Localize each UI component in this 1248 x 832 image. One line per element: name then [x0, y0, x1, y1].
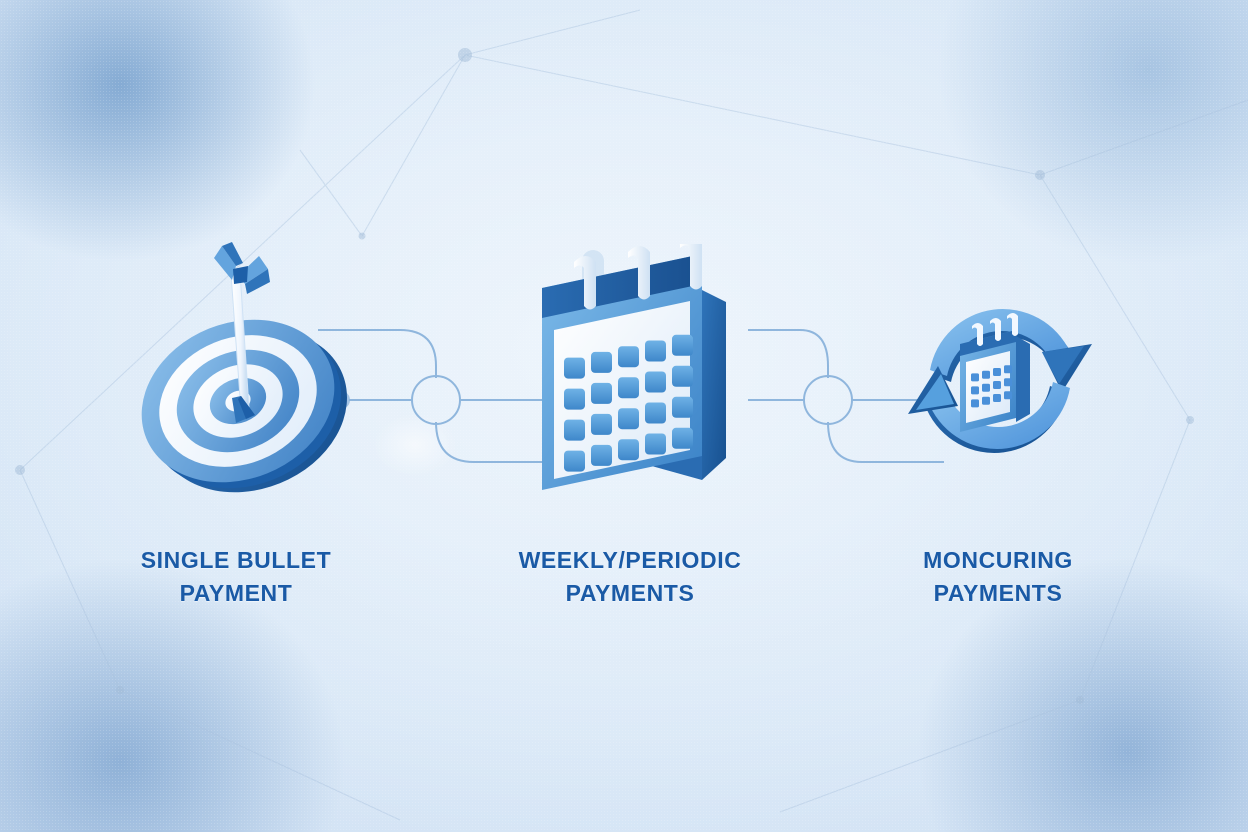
label-line-1: MONCURING [880, 544, 1116, 577]
step-label-single-bullet: SINGLE BULLET PAYMENT [86, 544, 386, 609]
label-line-1: SINGLE BULLET [86, 544, 386, 577]
connector-node-left [412, 376, 460, 424]
diagram-canvas: SINGLE BULLET PAYMENT WEEKLY/PERIODIC PA… [0, 0, 1248, 832]
recurring-cycle-icon [896, 266, 1104, 492]
step-label-weekly-periodic: WEEKLY/PERIODIC PAYMENTS [482, 544, 778, 609]
target-arrow-icon [128, 236, 348, 506]
connector-node-right [804, 376, 852, 424]
calendar-icon [530, 244, 742, 506]
label-line-2: PAYMENTS [482, 577, 778, 610]
connector-left [318, 330, 556, 462]
label-line-2: PAYMENTS [880, 577, 1116, 610]
step-label-recurring: MONCURING PAYMENTS [880, 544, 1116, 609]
label-line-2: PAYMENT [86, 577, 386, 610]
label-line-1: WEEKLY/PERIODIC [482, 544, 778, 577]
